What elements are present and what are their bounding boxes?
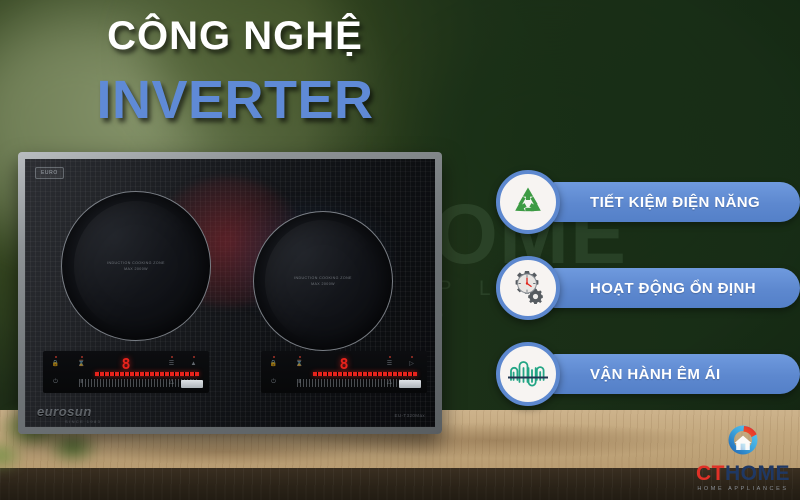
feature-icon-circle	[496, 256, 560, 320]
control-panel-right[interactable]: 🔒 ⌛ ☰ ▷ ⏻ ‖ △ ▲ 8	[261, 351, 427, 393]
slider-handle-left[interactable]	[181, 380, 203, 388]
indicator-dot	[299, 356, 301, 358]
logo-ct: CT	[696, 462, 725, 485]
boost-icon[interactable]: ▲	[189, 359, 198, 368]
feature-label: TIẾT KIỆM ĐIỆN NĂNG	[590, 194, 760, 211]
headline-line-1: CÔNG NGHỆ	[0, 14, 470, 59]
cooking-zone-right-label: INDUCTION COOKING ZONE MAX 2000W	[254, 275, 392, 287]
power-level-display-right: 8	[339, 355, 348, 373]
product-brand-sub: SINCE 1983	[65, 419, 101, 424]
gear-clock-icon	[508, 268, 548, 308]
induction-cooktop: EURO INDUCTION COOKING ZONE MAX 2000W IN…	[18, 152, 442, 434]
slider-handle-right[interactable]	[399, 380, 421, 388]
cooking-zone-right-line2: MAX 2000W	[254, 281, 392, 287]
power-icon[interactable]: ⏻	[269, 377, 278, 386]
lock-icon[interactable]: 🔒	[269, 359, 278, 368]
feature-item-quiet-operation[interactable]: VẬN HÀNH ÊM ÁI	[488, 338, 800, 424]
logo-emblem	[723, 423, 763, 462]
house-circle-icon	[723, 423, 763, 457]
cooking-zone-left-line2: MAX 2000W	[62, 266, 210, 272]
cthome-logo: CTHOME HOME APPLIANCES	[696, 423, 790, 492]
feature-icon-circle	[496, 342, 560, 406]
indicator-dot	[273, 356, 275, 358]
headline: CÔNG NGHỆ INVERTER	[0, 14, 470, 131]
lock-icon[interactable]: 🔒	[51, 359, 60, 368]
logo-home: HOME	[725, 462, 790, 485]
cooking-zone-left: INDUCTION COOKING ZONE MAX 2000W	[61, 191, 211, 341]
menu-icon[interactable]: ☰	[167, 359, 176, 368]
indicator-dot	[81, 356, 83, 358]
menu-icon[interactable]: ☰	[385, 359, 394, 368]
indicator-dot	[389, 356, 391, 358]
feature-pill[interactable]: VẬN HÀNH ÊM ÁI	[550, 354, 800, 394]
timer-icon[interactable]: ⌛	[77, 359, 86, 368]
cooking-zone-left-label: INDUCTION COOKING ZONE MAX 2000W	[62, 260, 210, 272]
feature-list: TIẾT KIỆM ĐIỆN NĂNG HOẠT ĐỘNG ỔN ĐỊ	[488, 166, 800, 424]
power-icon[interactable]: ⏻	[51, 377, 60, 386]
led-power-bar-left	[95, 372, 199, 376]
feature-pill[interactable]: HOẠT ĐỘNG ỔN ĐỊNH	[550, 268, 800, 308]
indicator-dot	[171, 356, 173, 358]
control-panel-left[interactable]: 🔒 ⌛ ☰ ▲ ⏻ ‖ △ ▷ 8	[43, 351, 209, 393]
product-model-mark: EU-T320Max	[394, 413, 425, 418]
indicator-dot	[55, 356, 57, 358]
power-level-display-left: 8	[121, 355, 130, 373]
waveform-icon	[506, 356, 550, 392]
headline-line-2: INVERTER	[0, 69, 470, 131]
feature-item-energy-saving[interactable]: TIẾT KIỆM ĐIỆN NĂNG	[488, 166, 800, 252]
timer-icon[interactable]: ⌛	[295, 359, 304, 368]
feature-label: HOẠT ĐỘNG ỔN ĐỊNH	[590, 280, 756, 297]
feature-icon-circle	[496, 170, 560, 234]
logo-tagline: HOME APPLIANCES	[697, 486, 788, 492]
feature-item-stable-operation[interactable]: HOẠT ĐỘNG ỔN ĐỊNH	[488, 252, 800, 338]
cooktop-glass-surface: EURO INDUCTION COOKING ZONE MAX 2000W IN…	[25, 159, 435, 427]
logo-wordmark: CTHOME	[696, 463, 790, 484]
cooking-zone-right: INDUCTION COOKING ZONE MAX 2000W	[253, 211, 393, 351]
recycle-icon	[509, 183, 547, 221]
indicator-dot	[411, 356, 413, 358]
promo-banner: CTHOME H O M E A P P L I A N C E S CÔNG …	[0, 0, 800, 500]
product-brand-mark: eurosun	[37, 404, 92, 419]
cooktop-corner-tag: EURO	[35, 167, 64, 179]
indicator-dot	[193, 356, 195, 358]
boost-icon[interactable]: ▷	[407, 359, 416, 368]
feature-pill[interactable]: TIẾT KIỆM ĐIỆN NĂNG	[550, 182, 800, 222]
feature-label: VẬN HÀNH ÊM ÁI	[590, 366, 721, 383]
led-power-bar-right	[313, 372, 417, 376]
